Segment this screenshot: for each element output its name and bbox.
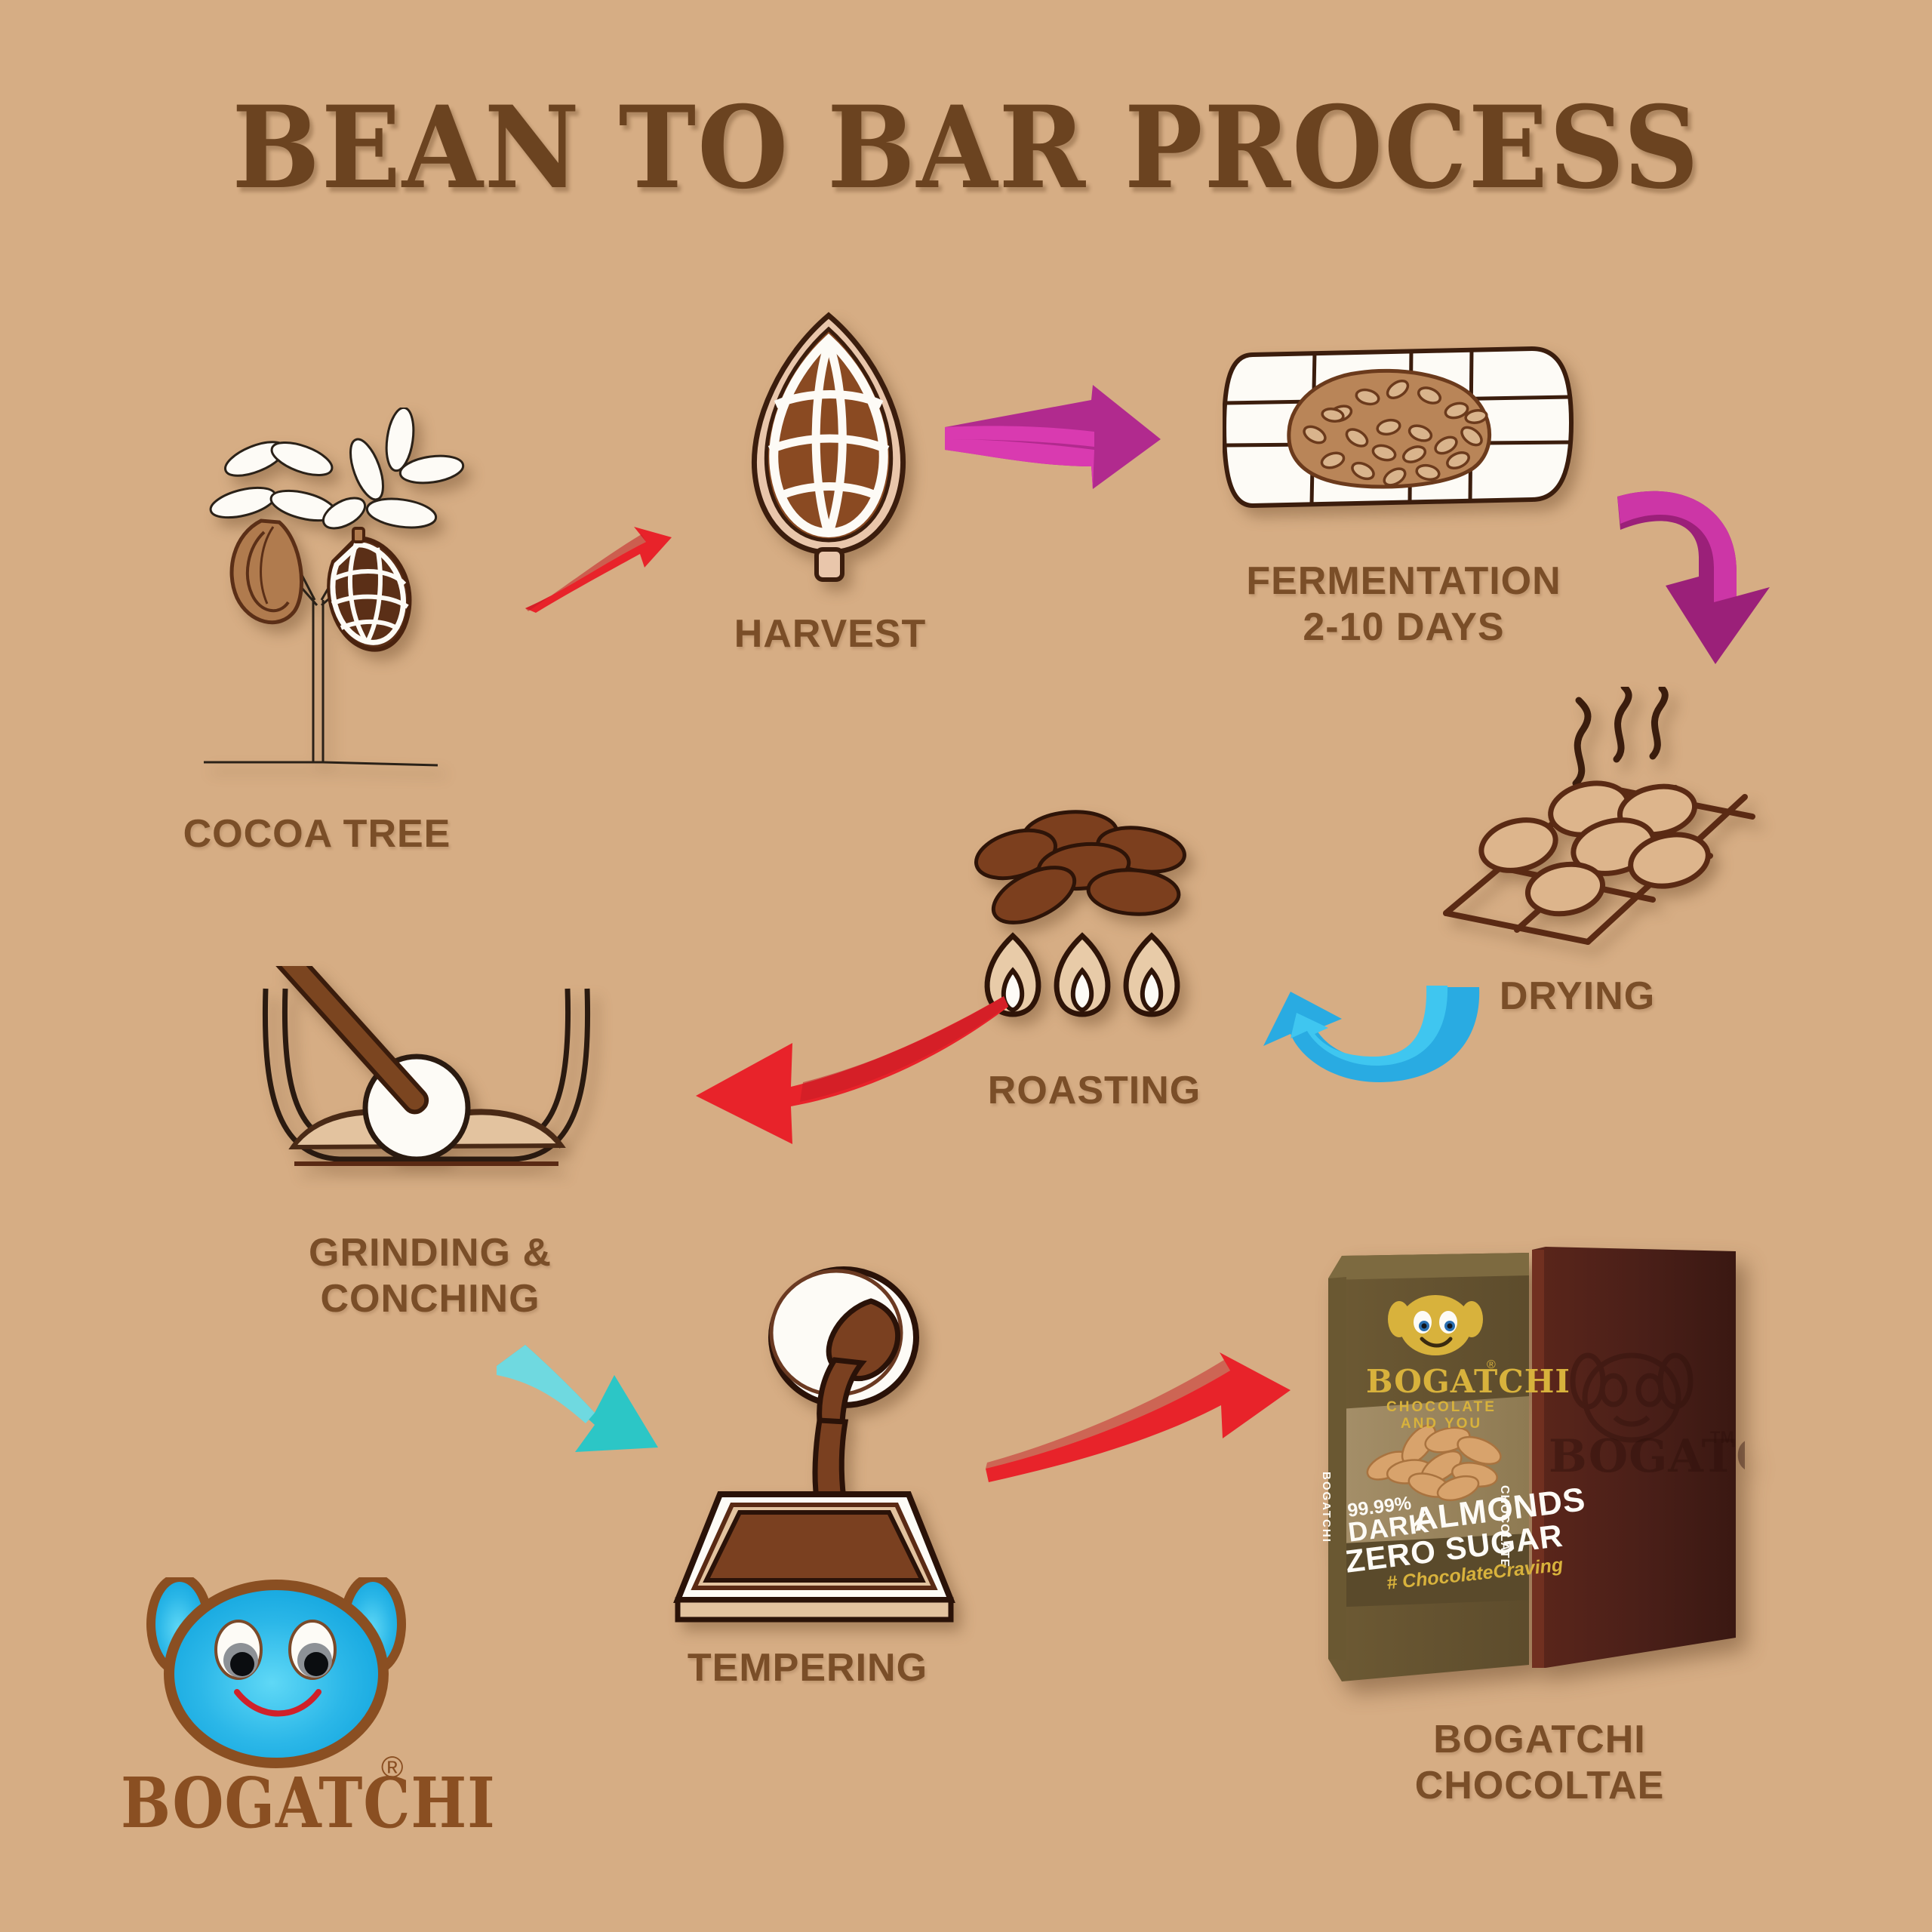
bogatchi-logo-wordmark: BOGATCHI	[121, 1762, 496, 1844]
caption-cocoa-tree: COCOA TREE	[136, 811, 498, 857]
package-tagline: CHOCOLATE AND YOU	[1366, 1399, 1517, 1432]
page-title: BEAN TO BAR PROCESS	[77, 82, 1854, 214]
fermentation-crate-icon	[1223, 332, 1577, 536]
chocolate-package-icon: BOGATCHI TM	[1322, 1245, 1745, 1690]
red-swoosh-arrow-left	[679, 996, 1011, 1147]
magenta-arrow-right	[943, 377, 1185, 506]
caption-tempering: TEMPERING	[596, 1645, 1019, 1691]
red-swoosh-arrow-right-2	[981, 1351, 1298, 1487]
cocoa-pod-icon	[732, 309, 928, 589]
registered-trademark-icon: ®	[381, 1751, 403, 1785]
cocoa-tree-icon	[189, 408, 506, 838]
tempering-pour-icon	[664, 1260, 958, 1638]
caption-grinding: GRINDING & CONCHING	[226, 1230, 634, 1323]
drying-rack-icon	[1404, 687, 1758, 958]
caption-harvest: HARVEST	[619, 611, 1041, 657]
svg-text:TM: TM	[1710, 1428, 1734, 1447]
package-vertical-word: CHOCOLATE	[1497, 1485, 1511, 1567]
package-brand-mark: ®	[1487, 1358, 1496, 1372]
caption-fermentation: FERMENTATION 2-10 DAYS	[1177, 558, 1630, 651]
caption-product: BOGATCHI CHOCOLTAE	[1351, 1717, 1728, 1810]
package-spine-text: BOGATCHI	[1320, 1472, 1333, 1543]
magenta-curved-arrow-down	[1581, 475, 1807, 679]
grinding-mill-icon	[249, 966, 604, 1215]
infographic-canvas: BEAN TO BAR PROCESS	[0, 0, 1932, 1932]
